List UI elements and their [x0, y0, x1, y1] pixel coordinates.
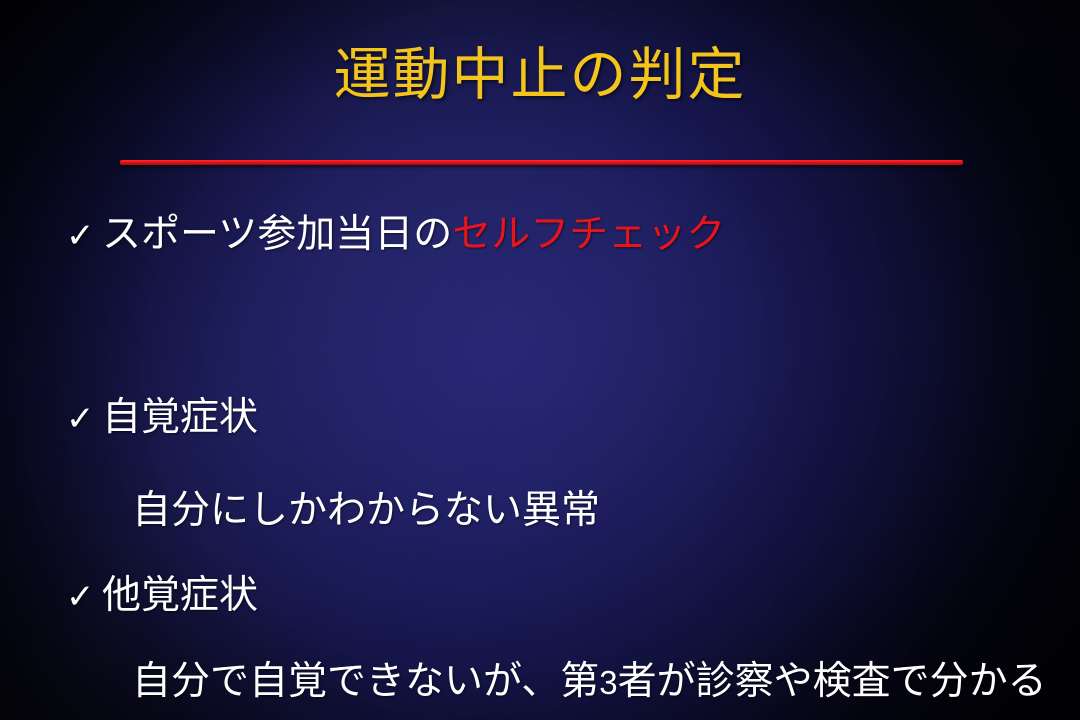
checkmark-icon: ✓ [66, 574, 102, 620]
sub-line-objective-number: 3 [599, 664, 617, 701]
sub-line-subjective: 自分にしかわからない異常 [66, 488, 1080, 534]
sub-line-objective-part1: 自分で自覚できないが、第 [132, 660, 599, 703]
bullet-label-accent: セルフチェック [452, 212, 725, 258]
checkmark-icon: ✓ [66, 213, 102, 259]
bullet-label-plain: 自覚症状 [102, 395, 258, 441]
title-divider-rule [120, 160, 963, 165]
slide-content: 運動中止の判定 ✓ スポーツ参加当日の セルフチェック ✓ 自覚症状 自分にしか… [0, 0, 1080, 720]
bullet-item-objective-symptoms: ✓ 他覚症状 [66, 573, 1080, 620]
bullet-label-plain: スポーツ参加当日の [102, 212, 452, 258]
slide-body: ✓ スポーツ参加当日の セルフチェック ✓ 自覚症状 自分にしかわからない異常 … [66, 212, 1080, 706]
bullet-item-self-check: ✓ スポーツ参加当日の セルフチェック [66, 212, 1080, 259]
sub-line-objective-part2: 者が診察や検査で分かる [618, 660, 1047, 703]
slide-title: 運動中止の判定 [0, 40, 1080, 110]
checkmark-icon: ✓ [66, 396, 102, 442]
bullet-item-subjective-symptoms: ✓ 自覚症状 [66, 395, 1080, 442]
bullet-label-plain: 他覚症状 [102, 573, 258, 619]
slide-canvas: 運動中止の判定 ✓ スポーツ参加当日の セルフチェック ✓ 自覚症状 自分にしか… [0, 0, 1080, 720]
sub-line-objective: 自分で自覚できないが、第3者が診察や検査で分かる [66, 659, 1080, 706]
